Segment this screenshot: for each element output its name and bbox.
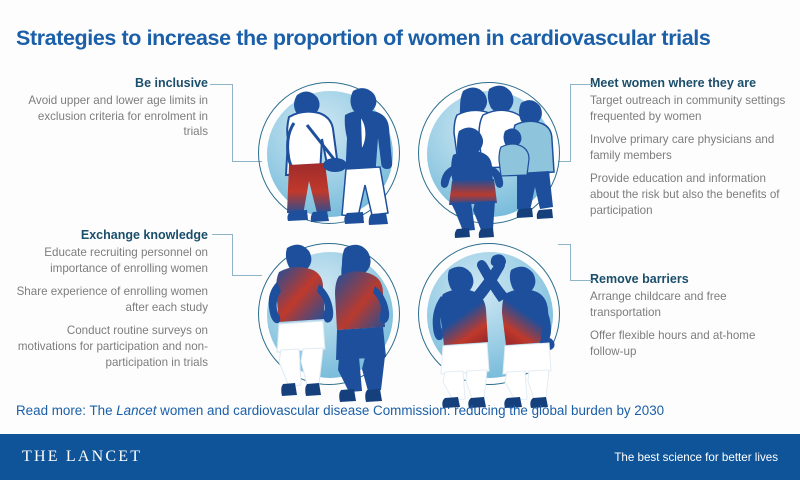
read-more-line: Read more: The Lancet women and cardiova… — [16, 403, 788, 418]
two-women-high-five-illustration — [418, 243, 560, 385]
strategy-heading: Exchange knowledge — [8, 228, 208, 243]
strategy-heading: Meet women where they are — [590, 76, 790, 91]
two-women-standing-illustration — [258, 82, 400, 224]
strategy-paragraph: Involve primary care physicians and fami… — [590, 132, 790, 163]
figures-svg — [409, 73, 571, 243]
footer-bar: THE LANCET The best science for better l… — [0, 434, 800, 480]
strategy-paragraph: Provide education and information about … — [590, 171, 790, 218]
page-title: Strategies to increase the proportion of… — [16, 26, 786, 51]
women-group-with-child-illustration — [418, 82, 560, 224]
strategy-paragraph: Conduct routine surveys on motivations f… — [8, 323, 208, 370]
strategy-block-meet-women-where-they-are: Meet women where they are Target outreac… — [590, 76, 790, 218]
strategy-heading: Be inclusive — [18, 76, 208, 91]
infographic-page: Strategies to increase the proportion of… — [0, 0, 800, 480]
figures-svg — [409, 234, 571, 404]
figures-svg — [249, 73, 411, 243]
read-more-prefix: Read more: The — [16, 403, 116, 418]
footer-tagline: The best science for better lives — [614, 451, 778, 464]
strategy-paragraph: Share experience of enrolling women afte… — [8, 284, 208, 315]
strategy-heading: Remove barriers — [590, 272, 790, 287]
strategy-paragraph: Offer flexible hours and at-home follow-… — [590, 328, 790, 359]
strategy-paragraph: Target outreach in community settings fr… — [590, 93, 790, 124]
strategy-block-be-inclusive: Be inclusive Avoid upper and lower age l… — [18, 76, 208, 140]
lancet-logo: THE LANCET — [22, 448, 142, 466]
strategy-paragraph: Arrange childcare and free transportatio… — [590, 289, 790, 320]
two-women-walking-illustration — [258, 243, 400, 385]
figures-svg — [249, 234, 411, 404]
strategy-block-remove-barriers: Remove barriers Arrange childcare and fr… — [590, 272, 790, 359]
strategy-block-exchange-knowledge: Exchange knowledge Educate recruiting pe… — [8, 228, 208, 370]
strategy-paragraph: Avoid upper and lower age limits in excl… — [18, 93, 208, 140]
strategy-paragraph: Educate recruiting personnel on importan… — [8, 245, 208, 276]
read-more-journal-name: Lancet — [116, 403, 156, 418]
read-more-suffix: women and cardiovascular disease Commiss… — [156, 403, 664, 418]
